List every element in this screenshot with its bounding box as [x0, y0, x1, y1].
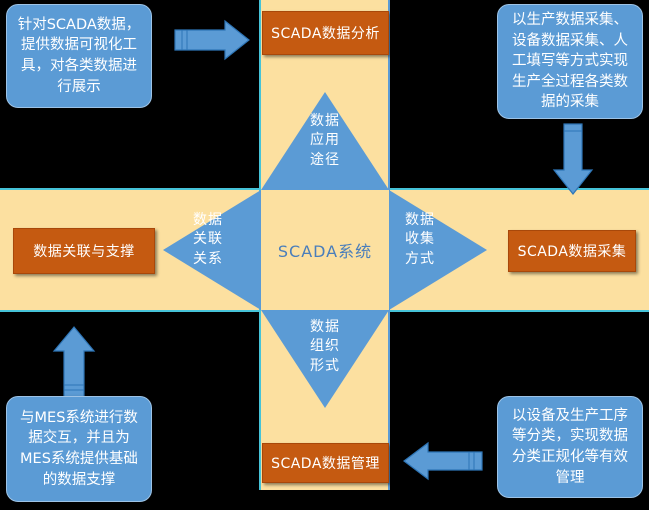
callout-bottom-left: 与MES系统进行数据交互，并且为MES系统提供基础的数据支撑	[6, 396, 152, 502]
arrow-right-icon	[173, 19, 251, 61]
arrow-up-icon	[50, 325, 98, 399]
triangle-label-down: 数据 组织 形式	[289, 318, 361, 376]
triangle-label-right: 数据 收集 方式	[398, 211, 442, 269]
triangle-label-up: 数据 应用 途径	[289, 112, 361, 170]
arrow-left-icon	[402, 441, 484, 481]
node-scada-data-management[interactable]: SCADA数据管理	[262, 443, 389, 483]
node-scada-data-collection[interactable]: SCADA数据采集	[508, 230, 636, 272]
node-data-association-support[interactable]: 数据关联与支撑	[13, 228, 155, 274]
node-scada-data-analysis[interactable]: SCADA数据分析	[262, 11, 389, 55]
triangle-label-left: 数据 关联 关系	[186, 211, 230, 269]
arrow-down-icon	[550, 122, 596, 196]
center-node-label: SCADA系统	[278, 238, 372, 262]
callout-top-left: 针对SCADA数据，提供数据可视化工具，对各类数据进行展示	[6, 4, 152, 108]
center-node: SCADA系统	[261, 190, 389, 310]
callout-bottom-right: 以设备及生产工序等分类，实现数据分类正规化等有效管理	[497, 396, 643, 498]
callout-top-right: 以生产数据采集、设备数据采集、人工填写等方式实现生产全过程各类数据的采集	[497, 4, 643, 119]
diagram-canvas: 数据 应用 途径 数据 收集 方式 数据 组织 形式 数据 关联 关系 SCAD…	[0, 0, 649, 510]
